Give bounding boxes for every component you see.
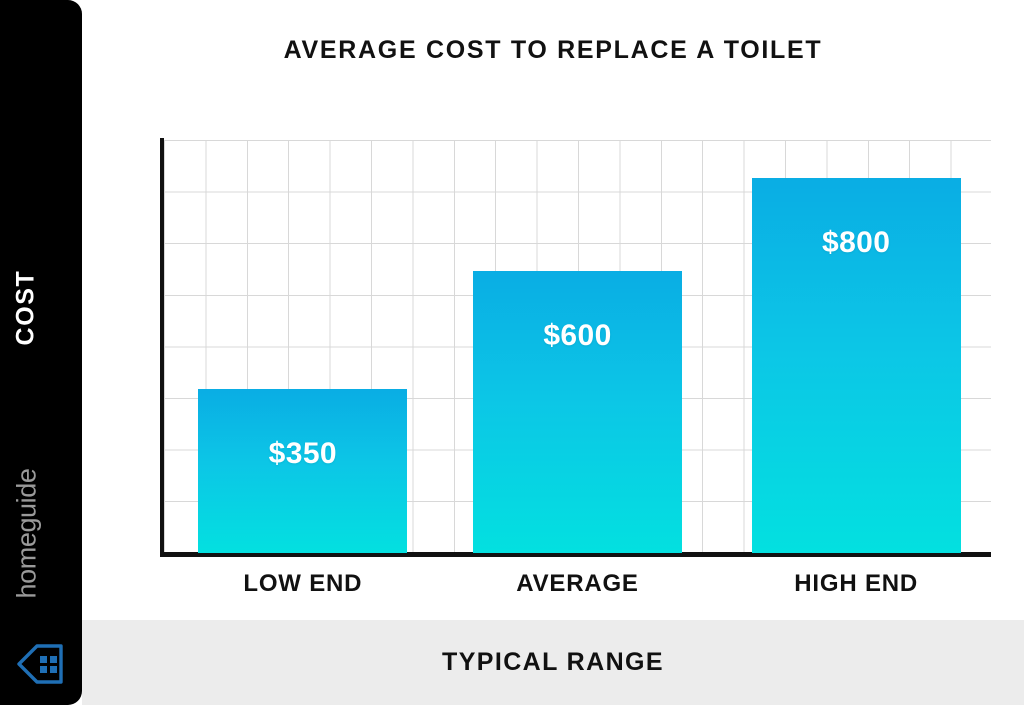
bar-low-end: $350 (198, 389, 407, 553)
plot-area: $350$600$800 (160, 140, 991, 557)
chart-title: AVERAGE COST TO REPLACE A TOILET (82, 36, 1024, 65)
bar-value-label: $600 (473, 319, 682, 353)
bar-average: $600 (473, 271, 682, 553)
sidebar-rail: COST homeguide (0, 0, 82, 705)
bar-series: $350$600$800 (164, 140, 991, 553)
infographic-root: COST homeguide AVERAGE COST TO REPLACE A… (0, 0, 1024, 705)
y-axis-label: COST (14, 228, 39, 388)
bar-value-label: $800 (752, 226, 961, 260)
x-tick-high-end: HIGH END (752, 570, 961, 598)
footer-label: TYPICAL RANGE (442, 648, 664, 677)
x-tick-average: AVERAGE (473, 570, 682, 598)
homeguide-house-grid-icon (17, 643, 65, 685)
brand-wordmark: homeguide (14, 469, 41, 599)
x-tick-low-end: LOW END (198, 570, 407, 598)
bar-value-label: $350 (198, 437, 407, 471)
x-axis-tick-labels: LOW ENDAVERAGEHIGH END (160, 570, 991, 604)
chart-card: AVERAGE COST TO REPLACE A TOILET $350$60… (82, 0, 1024, 620)
footer-band: TYPICAL RANGE (82, 620, 1024, 705)
bar-high-end: $800 (752, 178, 961, 553)
